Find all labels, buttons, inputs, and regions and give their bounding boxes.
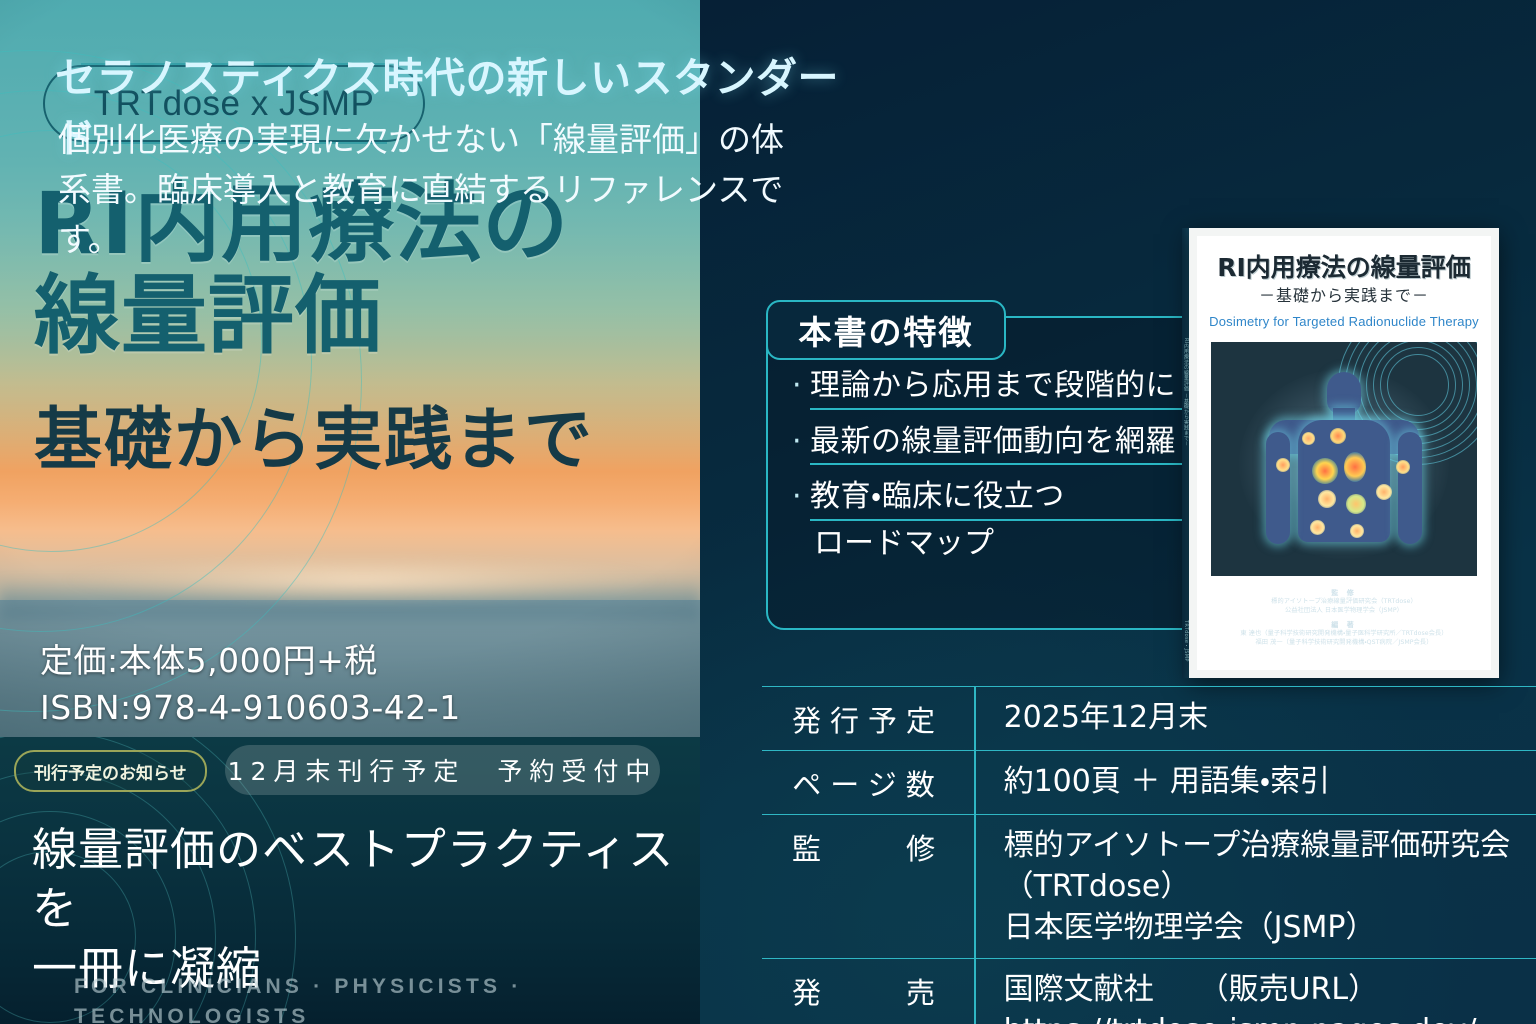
- features-card: · 理論から応用まで段階的に · 最新の線量評価動向を網羅 · 教育・臨床に役立…: [766, 316, 1206, 630]
- audience-text: FOR CLINICIANS · PHYSICISTS · TECHNOLOGI…: [74, 972, 700, 1024]
- spec-table: 発行予定 2025年12月末 ページ数 約100頁 ＋ 用語集・索引 監 修 標…: [762, 686, 1536, 1024]
- bullet-icon: ·: [792, 479, 802, 516]
- book-cover-image: RI内用療法の線量評価 －基礎から実践まで－ Dosimetry for Tar…: [1189, 228, 1499, 678]
- hotspot: [1346, 494, 1366, 514]
- table-row-value: 2025年12月末: [976, 687, 1536, 749]
- feature-item: · 理論から応用まで段階的に: [792, 368, 1188, 410]
- table-row-label: ページ数: [762, 751, 974, 814]
- silhouette-right-arm: [1398, 432, 1422, 544]
- right-description: 個別化医療の実現に欠かせない「線量評価」の体系書。臨床導入と教育に直結するリファ…: [58, 115, 788, 265]
- book-cover-title: RI内用療法の線量評価: [1197, 248, 1491, 284]
- book-cover-subtitle: －基礎から実践まで－: [1197, 282, 1491, 306]
- bullet-icon: ·: [792, 368, 802, 405]
- notice-badge: 刊行予定のお知らせ: [14, 750, 207, 792]
- page-subtitle: 基礎から実践まで: [34, 404, 674, 479]
- table-row-label: 発行予定: [762, 687, 974, 750]
- hotspot: [1344, 452, 1366, 482]
- features-tab-label: 本書の特徴: [799, 306, 974, 354]
- feature-underline: [810, 463, 1188, 465]
- feature-text: 理論から応用まで段階的に: [810, 368, 1176, 405]
- hotspot: [1302, 432, 1315, 445]
- page-title-line-2: 線量評価: [34, 270, 674, 362]
- purchase-url[interactable]: https://trtdose-jsmp.pages.dev/: [1004, 1011, 1536, 1024]
- hotspot: [1310, 520, 1325, 535]
- audience-line-1: FOR CLINICIANS · PHYSICISTS · TECHNOLOGI…: [74, 972, 700, 1024]
- isbn-text: ISBN:978-4-910603-42-1: [40, 685, 461, 732]
- feature-underline: [810, 519, 1188, 521]
- table-row-label: 発 売: [762, 959, 974, 1022]
- hotspot: [1330, 428, 1346, 444]
- book-cover-credits: 監 修 標的アイソトープ治療線量評価研究会（TRTdose） 公益社団法人 日本…: [1197, 584, 1491, 648]
- release-badge: 12月末刊行予定 予約受付中: [225, 745, 660, 795]
- table-value-line: 標的アイソトープ治療線量評価研究会（TRTdose）: [1004, 826, 1536, 908]
- credit-heading-editors: 編 著: [1197, 620, 1491, 630]
- credit-line: 福田 茂一（量子科学技術研究開発機構・QST病院／JSMP会長）: [1197, 639, 1491, 648]
- bullet-icon: ·: [792, 424, 802, 461]
- tagline-line-1: 線量評価のベストプラクティスを: [32, 820, 692, 939]
- feature-text-continued: ロードマップ: [814, 526, 1188, 563]
- hotspot: [1312, 458, 1338, 484]
- release-badge-label: 12月末刊行予定 予約受付中: [228, 752, 658, 788]
- feature-item: · 教育・臨床に役立つ ロードマップ: [792, 479, 1188, 562]
- poster-root: TRTdose x JSMP RI内用療法の 線量評価 基礎から実践まで 定価:…: [0, 0, 1536, 1024]
- hotspot: [1318, 490, 1336, 508]
- table-row-value: 標的アイソトープ治療線量評価研究会（TRTdose） 日本医学物理学会（JSMP…: [976, 815, 1536, 958]
- table-row-label: 監 修: [762, 815, 974, 878]
- body-silhouette-icon: [1256, 372, 1432, 568]
- table-value-line: 2025年12月末: [1004, 698, 1536, 739]
- features-tab: 本書の特徴: [766, 300, 1006, 360]
- hotspot: [1276, 458, 1290, 472]
- features-list: · 理論から応用まで段階的に · 最新の線量評価動向を網羅 · 教育・臨床に役立…: [792, 368, 1188, 576]
- table-value-line: 国際文献社 （販売URL）: [1004, 970, 1536, 1011]
- feature-item: · 最新の線量評価動向を網羅: [792, 424, 1188, 466]
- table-row: ページ数 約100頁 ＋ 用語集・索引: [762, 750, 1536, 814]
- notice-badge-label: 刊行予定のお知らせ: [34, 759, 187, 784]
- credit-line: 東 達也（量子科学技術研究開発機構・量子医科学研究所／TRTdose会長）: [1197, 630, 1491, 639]
- table-value-line: 約100頁 ＋ 用語集・索引: [1004, 762, 1536, 803]
- table-row-value: 約100頁 ＋ 用語集・索引: [976, 751, 1536, 813]
- feature-text: 教育・臨床に役立つ: [810, 479, 1065, 516]
- book-cover-inner: RI内用療法の線量評価 －基礎から実践まで－ Dosimetry for Tar…: [1197, 236, 1491, 670]
- hotspot: [1350, 524, 1364, 538]
- credit-line: 標的アイソトープ治療線量評価研究会（TRTdose）: [1197, 598, 1491, 607]
- book-cover-artwork: [1211, 342, 1477, 576]
- table-row: 発 売 国際文献社 （販売URL） https://trtdose-jsmp.p…: [762, 958, 1536, 1024]
- credit-line: 公益社団法人 日本医学物理学会（JSMP）: [1197, 607, 1491, 616]
- table-row: 監 修 標的アイソトープ治療線量評価研究会（TRTdose） 日本医学物理学会（…: [762, 814, 1536, 958]
- hotspot: [1376, 484, 1392, 500]
- silhouette-left-arm: [1266, 432, 1290, 544]
- hotspot: [1396, 460, 1410, 474]
- feature-underline: [810, 408, 1188, 410]
- feature-text: 最新の線量評価動向を網羅: [810, 424, 1176, 461]
- book-cover-english-subtitle: Dosimetry for Targeted Radionuclide Ther…: [1197, 314, 1491, 329]
- table-row: 発行予定 2025年12月末: [762, 686, 1536, 750]
- price-block: 定価:本体5,000円+税 ISBN:978-4-910603-42-1: [40, 638, 461, 732]
- table-value-line: 日本医学物理学会（JSMP）: [1004, 908, 1536, 949]
- table-row-value: 国際文献社 （販売URL） https://trtdose-jsmp.pages…: [976, 959, 1536, 1024]
- price-text: 定価:本体5,000円+税: [40, 638, 461, 685]
- credit-heading-supervision: 監 修: [1197, 588, 1491, 598]
